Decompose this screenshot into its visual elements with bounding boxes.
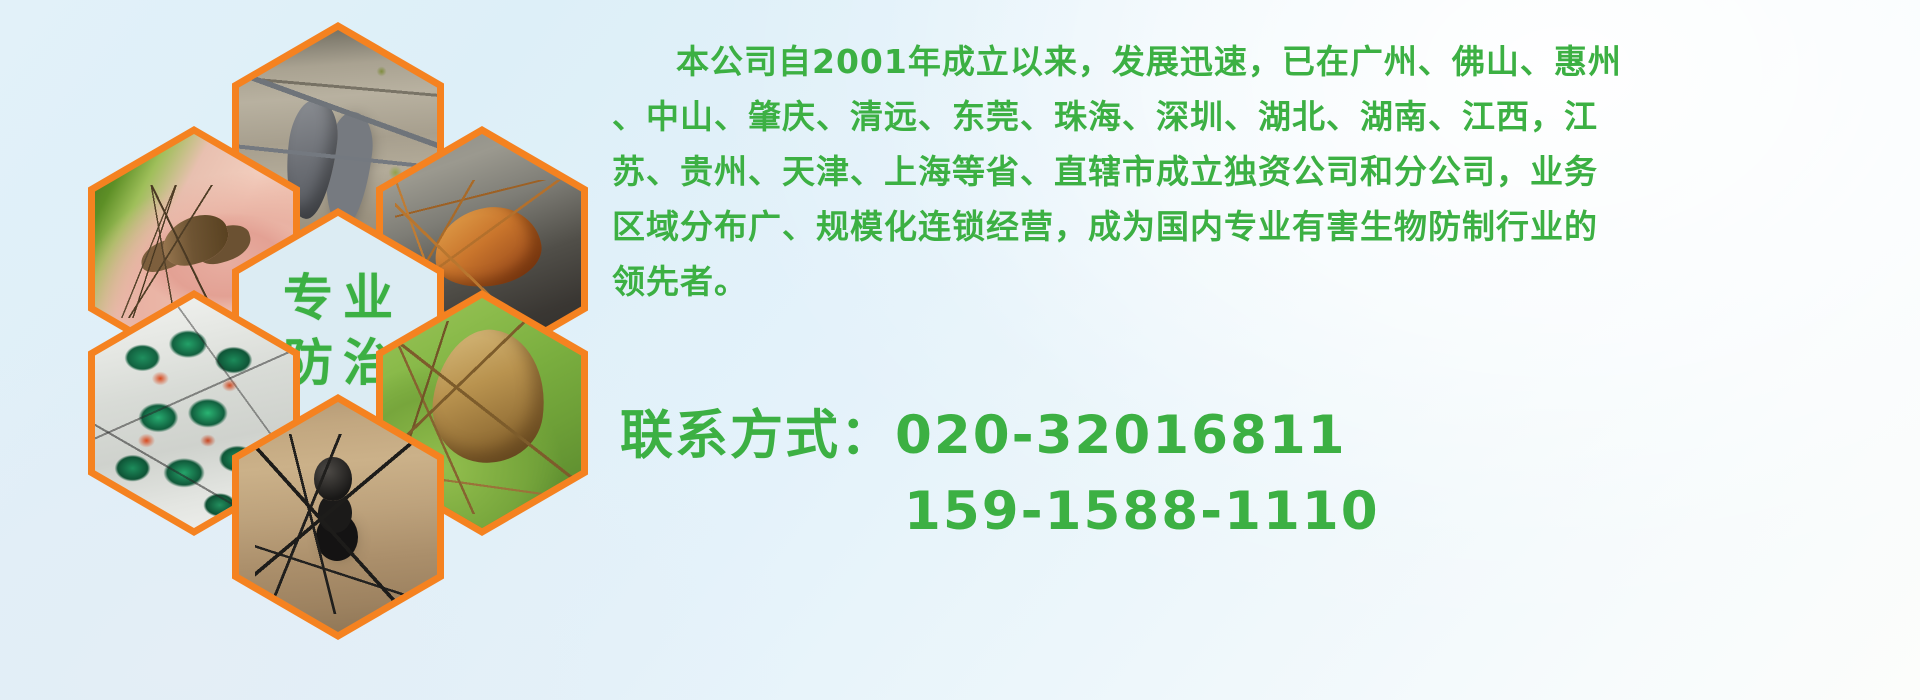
company-description: 本公司自2001年成立以来，发展迅速，已在广州、佛山、惠州 、中山、肇庆、清远、… [612, 34, 1912, 309]
description-line-3: 苏、贵州、天津、上海等省、直辖市成立独资公司和分公司，业务 [612, 144, 1912, 199]
hexagon-photo-cluster: 专业 防治 [88, 8, 588, 553]
description-line-5: 领先者。 [612, 254, 1912, 309]
contact-phone-primary[interactable]: 联系方式：020-32016811 [620, 398, 1920, 474]
contact-phone-secondary[interactable]: 159-1588-1110 [620, 474, 1920, 550]
promo-banner: 专业 防治 本公司自2001年成立以来，发展迅速，已在广州、佛山、惠州 [0, 0, 1920, 700]
cluster-caption-line-1: 专业 [273, 266, 403, 331]
description-line-2: 、中山、肇庆、清远、东莞、珠海、深圳、湖北、湖南、江西，江 [612, 89, 1912, 144]
hex-inner-ant [239, 402, 437, 632]
ant-photo [239, 402, 437, 632]
description-line-1: 本公司自2001年成立以来，发展迅速，已在广州、佛山、惠州 [612, 34, 1912, 89]
description-line-4: 区域分布广、规模化连锁经营，成为国内专业有害生物防制行业的 [612, 199, 1912, 254]
contact-block: 联系方式：020-32016811 159-1588-1110 [620, 398, 1920, 550]
